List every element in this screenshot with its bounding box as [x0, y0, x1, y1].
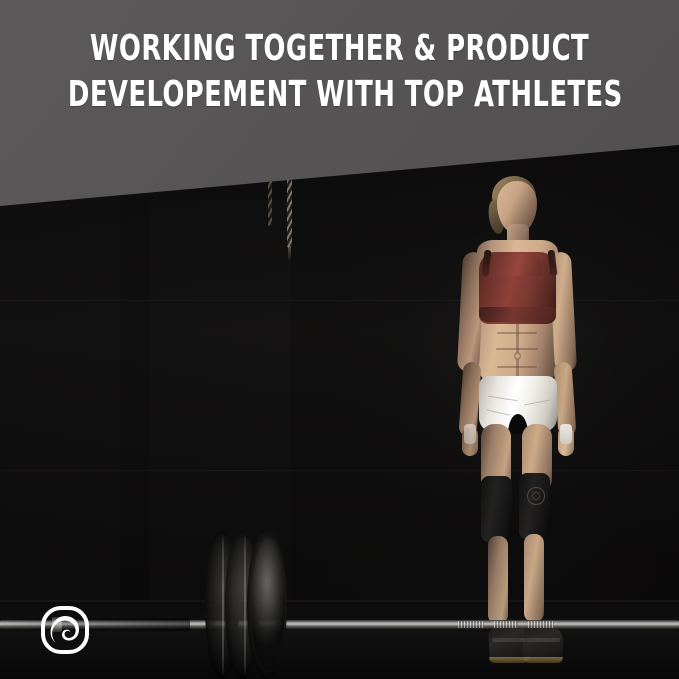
athlete-calf-left — [488, 536, 508, 624]
abs-midline — [516, 318, 519, 382]
barbell-knurling — [494, 621, 518, 628]
knee-sleeve-left — [481, 476, 512, 542]
page-title: WORKING TOGETHER & PRODUCT DEVELOPEMENT … — [68, 26, 611, 118]
shoe-strap-right — [526, 638, 560, 642]
rehband-spiral-logo — [39, 604, 91, 656]
plate-face — [251, 539, 285, 671]
sports-bra-band — [479, 307, 556, 322]
shoe-strap-left — [492, 638, 526, 642]
abs-crease-3 — [497, 366, 537, 368]
abs-crease-1 — [497, 332, 537, 334]
barbell-shadow — [0, 618, 190, 631]
plate-rim-highlight — [222, 535, 224, 675]
sports-bra-yoke — [494, 254, 542, 276]
plate-rim-highlight — [244, 535, 246, 675]
barbell-knurling — [458, 621, 484, 628]
wrist-wrap-left — [464, 424, 476, 444]
knee-sleeve-brand-icon — [527, 487, 545, 505]
headline-line-1: WORKING TOGETHER & PRODUCT — [68, 26, 611, 72]
knee-sleeve-right — [519, 473, 550, 539]
shoe-sole-right — [523, 657, 563, 663]
navel — [514, 352, 521, 360]
headline-line-2: DEVELOPEMENT WITH TOP ATHLETES — [68, 72, 611, 118]
athlete-calf-right — [524, 534, 544, 622]
wrist-wrap-right — [560, 424, 572, 444]
barbell-knurling — [528, 621, 554, 628]
product-banner: WORKING TOGETHER & PRODUCT DEVELOPEMENT … — [0, 0, 679, 679]
abs-crease-2 — [496, 348, 538, 350]
weight-plate-stack — [205, 531, 313, 679]
